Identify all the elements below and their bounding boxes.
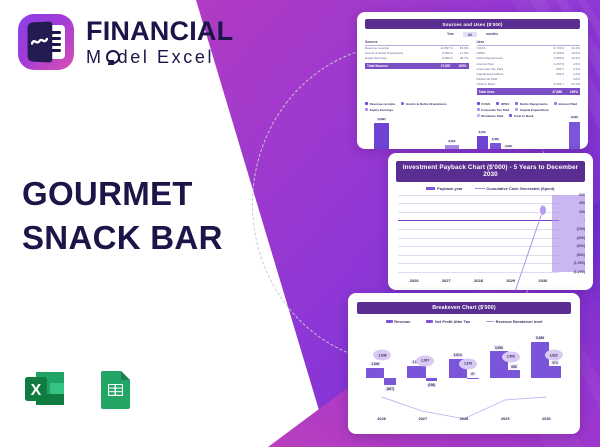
bar-value-label: 5,469 — [491, 138, 499, 141]
legend-label: Dividends Paid — [481, 114, 503, 118]
bar: 6,720 — [477, 136, 488, 149]
table-row: Grants & Debts Drawdowns5,000.017.9% — [365, 51, 469, 56]
row-percent: 1.0% — [564, 72, 580, 76]
legend-item: Equity Earnings — [365, 108, 393, 112]
row-percent: 2.2% — [564, 67, 580, 71]
table-row: Revenue receipts14,897.053.3% — [365, 46, 469, 51]
bar-value-label: 14,897 — [377, 118, 387, 121]
row-label: Equity Earnings — [365, 56, 429, 60]
legend-swatch — [515, 108, 518, 111]
row-label: Dividends Paid — [477, 77, 541, 81]
legend-swatch — [365, 102, 368, 105]
revenue-value-label: 5,366 — [535, 336, 545, 341]
revenue-bar: 5,366 — [531, 342, 549, 379]
row-label: Capital Expenditure — [477, 72, 541, 76]
table-row: COGS6,720.024.1% — [477, 46, 581, 51]
bar: 5,469 — [490, 143, 501, 149]
row-label: Revenue receipts — [365, 46, 429, 50]
legend-item: Interest Paid — [554, 102, 577, 106]
legend-swatch-bar — [426, 187, 435, 190]
y-tick-label: (1,000) — [574, 261, 585, 265]
row-value: 603.7 — [540, 67, 564, 71]
y-tick-label: (200) — [577, 227, 585, 231]
legend-label: OPEX — [501, 102, 510, 106]
payback-title: Investment Payback Chart ($'000) - 5 Yea… — [396, 161, 585, 182]
breakeven-value-bubble: 2,638 — [373, 350, 391, 361]
y-tick-label: (400) — [577, 236, 585, 240]
net-profit-value-label: 47 — [470, 372, 476, 377]
table-row: Corporate Tax Paid603.72.2% — [477, 66, 581, 71]
table-row: Cash in Bank9,604.734.1% — [477, 81, 581, 86]
bar-group: 3,956658 — [488, 329, 523, 408]
net-profit-bar: (198) — [426, 378, 438, 381]
legend-label: Revenue receipts — [370, 102, 396, 106]
sources-total-value: 27,897 — [427, 64, 451, 68]
table-row: OPEX5,468.819.6% — [477, 51, 581, 56]
svg-text:X: X — [31, 382, 42, 399]
brand-logo: FINANCIAL M del Excel — [18, 14, 233, 70]
legend-swatch — [477, 114, 480, 117]
file-format-badges: X — [22, 366, 138, 412]
y-tick-label: (1,200) — [574, 270, 585, 274]
financial-model-app-icon — [18, 14, 74, 70]
uses-total-row: Total Uses 27,898 100% — [477, 88, 581, 94]
uses-total-value: 27,898 — [538, 90, 562, 94]
headline-line-2: SNACK BAR — [22, 216, 223, 260]
legend-label: Equity Earnings — [370, 108, 394, 112]
legend-payback-year: Payback year — [426, 186, 462, 191]
legend-item: Cash in Bank — [509, 114, 533, 118]
row-label: Interest Paid — [477, 62, 541, 66]
row-percent: 19.6% — [564, 51, 580, 55]
x-tick-label: 2030 — [538, 278, 547, 283]
table-row: Debts Repayments3,950.214.2% — [477, 56, 581, 61]
row-value: 5,000.0 — [429, 51, 453, 55]
panel-breakeven-chart: Breakeven Chart ($'000) Revenue Net Prof… — [348, 293, 580, 434]
payback-x-axis: 20262027202820292030 — [398, 278, 559, 283]
row-label: OPEX — [477, 51, 541, 55]
row-value: 6,720.0 — [540, 46, 564, 50]
bar: 14,897 — [374, 123, 388, 149]
breakeven-value-bubble: 2,505 — [502, 351, 520, 362]
revenue-value-label: 3,956 — [494, 345, 504, 350]
sources-total-label: Total Sources — [367, 64, 427, 68]
period-label-0: Year — [447, 32, 454, 37]
row-value: 8,000.0 — [429, 56, 453, 60]
sources-column: Sources Revenue receipts14,897.053.3%Gra… — [365, 40, 469, 94]
payback-y-axis: 600400200-(200)(400)(600)(800)(1,000)(1,… — [560, 195, 585, 272]
legend-item: Corporate Tax Paid — [477, 108, 510, 112]
revenue-value-label: 2,814 — [452, 353, 462, 358]
payback-legend: Payback year Cumulative Cash Generated (… — [396, 186, 585, 191]
row-value: 3,950.2 — [540, 56, 564, 60]
legend-swatch-net-profit — [426, 320, 433, 323]
y-tick-label: 200 — [579, 210, 585, 214]
data-point — [540, 205, 547, 215]
row-value: 9,604.7 — [540, 82, 564, 86]
legend-item: Debts Repayments — [515, 102, 547, 106]
revenue-bar: 1,540 — [366, 368, 384, 379]
row-percent: 0.0% — [564, 77, 580, 81]
legend-label: Grants & Debts Drawdowns — [406, 102, 447, 106]
x-tick-label: 2028 — [460, 416, 469, 421]
x-tick-label: 2026 — [377, 416, 386, 421]
microsoft-excel-icon: X — [22, 366, 68, 412]
row-value: 282.0 — [540, 72, 564, 76]
legend-cumulative-cash: Cumulative Cash Generated (Spent) — [475, 186, 555, 191]
net-profit-bar: (467) — [384, 378, 396, 385]
sources-chart-legend: Revenue receiptsGrants & Debts Drawdowns… — [365, 102, 469, 112]
sources-uses-period-selector[interactable]: Year All months — [365, 32, 580, 37]
table-row: Dividends Paid-0.0% — [477, 76, 581, 81]
legend-label: Corporate Tax Paid — [481, 108, 509, 112]
sources-uses-title: Sources and Uses ($'000) — [365, 19, 580, 29]
breakeven-legend: Revenue Net Profit After Tax Revenue Bre… — [357, 319, 571, 324]
legend-swatch — [496, 102, 499, 105]
payback-plot: 600400200-(200)(400)(600)(800)(1,000)(1,… — [396, 195, 585, 283]
bar-value-label: 6,720 — [478, 131, 486, 134]
brand-subtitle-part2: del Excel — [118, 48, 214, 66]
bar: 9,605 — [569, 122, 580, 149]
legend-label-breakeven-level: Revenue Breakeven level — [496, 319, 543, 324]
legend-swatch — [509, 114, 512, 117]
legend-breakeven-level: Revenue Breakeven level — [486, 319, 542, 324]
row-value: 5,468.8 — [540, 51, 564, 55]
bar-value-label: 8,000 — [448, 140, 456, 143]
legend-label: COGS — [481, 102, 490, 106]
row-percent: 24.1% — [564, 46, 580, 50]
bar-group: 1,540(467) — [364, 329, 399, 408]
lightbulb-icon — [105, 49, 117, 65]
legend-item: Capital Expenditure — [515, 108, 549, 112]
row-percent: 14.2% — [564, 56, 580, 60]
page-title: GOURMET SNACK BAR — [22, 172, 223, 260]
y-tick-label: (600) — [577, 244, 585, 248]
legend-swatch-revenue — [386, 320, 393, 323]
legend-item: COGS — [477, 102, 491, 106]
net-profit-value-label: (198) — [427, 383, 437, 388]
legend-label: Capital Expenditure — [520, 108, 549, 112]
x-tick-label: 2030 — [542, 416, 551, 421]
poster-canvas: FINANCIAL M del Excel GOURMET SNACK BAR … — [0, 0, 600, 447]
uses-total-label: Total Uses — [479, 90, 539, 94]
legend-label-payback-year: Payback year — [437, 186, 463, 191]
legend-item: Grants & Debts Drawdowns — [401, 102, 446, 106]
x-tick-label: 2027 — [418, 416, 427, 421]
row-label: Corporate Tax Paid — [477, 67, 541, 71]
net-profit-value-label: 658 — [510, 364, 518, 369]
legend-swatch-breakeven-line — [486, 321, 494, 322]
legend-label: Cash in Bank — [514, 114, 534, 118]
period-label-2: months — [486, 32, 498, 37]
legend-swatch — [401, 102, 404, 105]
breakeven-title: Breakeven Chart ($'000) — [357, 302, 571, 314]
sources-bar-chart: 14,8975,0008,000 — [365, 120, 469, 149]
x-tick-label: 2026 — [410, 278, 419, 283]
x-tick-label: 2029 — [506, 278, 515, 283]
legend-item: Dividends Paid — [477, 114, 504, 118]
y-tick-label: 400 — [579, 201, 585, 205]
net-profit-bar: 973 — [549, 366, 561, 378]
row-percent: 34.1% — [564, 82, 580, 86]
headline-line-1: GOURMET — [22, 172, 223, 216]
legend-label: Interest Paid — [558, 102, 577, 106]
uses-bar-chart: 6,7205,4693,9501,268604282-9,605 — [477, 120, 581, 149]
legend-swatch — [365, 108, 368, 111]
breakeven-plot: 1,540(467)1,848(198)2,814473,9566585,366… — [357, 329, 571, 421]
row-label: Debts Repayments — [477, 56, 541, 60]
row-value: 14,897.0 — [429, 46, 453, 50]
payback-line-series — [398, 195, 559, 290]
y-tick-label: - — [584, 218, 585, 222]
row-percent: 17.9% — [453, 51, 469, 55]
row-percent: 53.3% — [453, 46, 469, 50]
bar: 8,000 — [445, 145, 459, 149]
bar-group: 1,848(198) — [405, 329, 440, 408]
uses-column: Uses COGS6,720.024.1%OPEX5,468.819.6%Deb… — [477, 40, 581, 94]
brand-title: FINANCIAL — [86, 18, 233, 45]
row-label: Grants & Debts Drawdowns — [365, 51, 429, 55]
legend-swatch-line — [475, 188, 485, 189]
brand-subtitle: M del Excel — [86, 48, 233, 66]
panel-sources-and-uses: Sources and Uses ($'000) Year All months… — [357, 12, 588, 149]
uses-chart-legend: COGSOPEXDebts RepaymentsInterest PaidCor… — [477, 102, 581, 118]
row-value: 1,267.8 — [540, 62, 564, 66]
y-tick-label: (800) — [577, 253, 585, 257]
legend-item: OPEX — [496, 102, 509, 106]
row-percent: 28.7% — [453, 56, 469, 60]
panel-investment-payback: Investment Payback Chart ($'000) - 5 Yea… — [388, 153, 593, 290]
x-tick-label: 2029 — [501, 416, 510, 421]
legend-label-cumulative-cash: Cumulative Cash Generated (Spent) — [486, 186, 554, 191]
net-profit-value-label: (467) — [385, 386, 395, 391]
breakeven-x-axis: 20262027202820292030 — [361, 416, 567, 421]
legend-label: Debts Repayments — [520, 102, 548, 106]
net-profit-bar: 47 — [467, 378, 479, 379]
row-percent: 4.5% — [564, 62, 580, 66]
x-tick-label: 2028 — [474, 278, 483, 283]
uses-total-pct: 100% — [562, 90, 578, 94]
bar-group: 5,366973 — [529, 329, 564, 408]
x-tick-label: 2027 — [442, 278, 451, 283]
table-row: Interest Paid1,267.84.5% — [477, 61, 581, 66]
sources-total-pct: 100% — [451, 64, 467, 68]
row-label: Cash in Bank — [477, 82, 541, 86]
legend-swatch — [477, 102, 480, 105]
period-value[interactable]: All — [463, 32, 477, 37]
google-sheets-icon — [92, 366, 138, 412]
table-row: Equity Earnings8,000.028.7% — [365, 56, 469, 61]
breakeven-value-bubble: 2,007 — [416, 355, 434, 366]
legend-swatch — [515, 102, 518, 105]
net-profit-value-label: 973 — [551, 360, 559, 365]
trend-squiggle-icon — [31, 37, 48, 46]
legend-swatch — [477, 108, 480, 111]
legend-label-revenue: Revenue — [394, 319, 410, 324]
net-profit-bar: 658 — [508, 370, 520, 378]
legend-net-profit: Net Profit After Tax — [426, 319, 470, 324]
brand-wordmark: FINANCIAL M del Excel — [86, 18, 233, 66]
sources-uses-table: Sources Revenue receipts14,897.053.3%Gra… — [365, 40, 580, 94]
y-tick-label: 600 — [579, 193, 585, 197]
revenue-value-label: 1,540 — [370, 362, 380, 367]
breakeven-value-bubble: 1,676 — [459, 358, 477, 369]
table-row: Capital Expenditure282.01.0% — [477, 71, 581, 76]
legend-swatch — [554, 102, 557, 105]
row-value: - — [540, 77, 564, 81]
legend-item: Revenue receipts — [365, 102, 395, 106]
sources-total-row: Total Sources 27,897 100% — [365, 63, 469, 69]
brand-subtitle-part1: M — [86, 48, 104, 66]
revenue-bar: 1,848 — [407, 366, 425, 379]
legend-label-net-profit: Net Profit After Tax — [435, 319, 470, 324]
breakeven-value-bubble: 2,633 — [545, 350, 563, 361]
legend-revenue: Revenue — [386, 319, 411, 324]
row-label: COGS — [477, 46, 541, 50]
bar-value-label: 9,605 — [570, 116, 578, 119]
bar-value-label: 3,950 — [504, 145, 512, 148]
